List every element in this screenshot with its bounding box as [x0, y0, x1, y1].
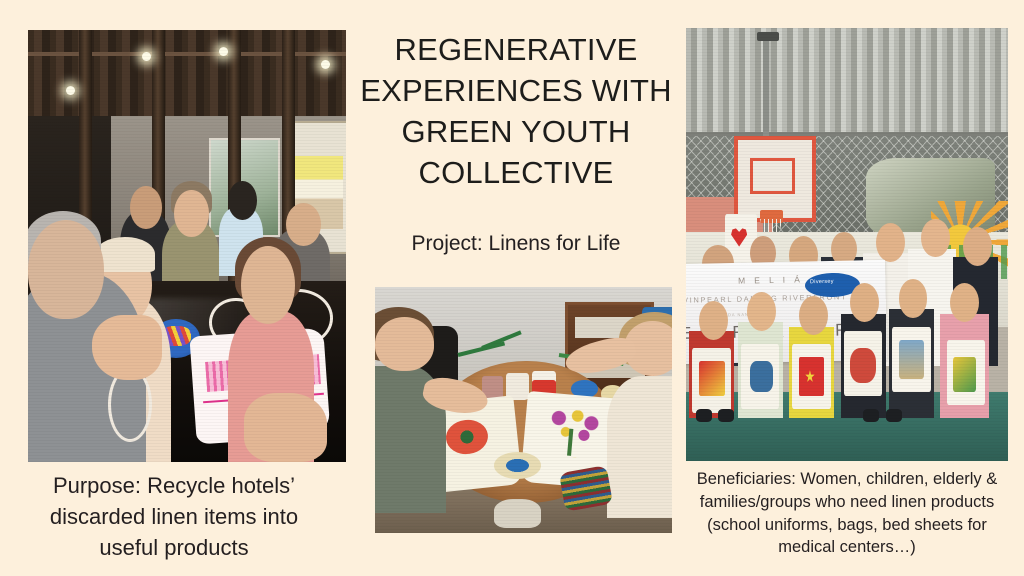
hall-ceiling — [28, 30, 346, 125]
standing-staff-head — [130, 186, 162, 229]
ceiling-lamp — [321, 60, 330, 69]
teen-head — [963, 227, 992, 266]
painter-left-head — [375, 317, 434, 371]
page-title: REGENERATIVE EXPERIENCES WITH GREEN YOUT… — [348, 30, 684, 194]
ceiling-lamp — [219, 47, 228, 56]
caption-beneficiaries: Beneficiaries: Women, children, elderly … — [676, 468, 1018, 559]
background-person-head — [228, 181, 257, 220]
woman-floral-dress-head — [241, 246, 295, 324]
painted-floral-spray — [545, 408, 602, 459]
photo-workshop-participants — [28, 30, 346, 462]
bag-painted-design — [899, 340, 925, 379]
volunteer-head — [921, 219, 950, 258]
corrugated-metal-wall — [686, 28, 1008, 141]
bag-painted-design — [750, 361, 773, 391]
seated-man-head — [286, 203, 321, 246]
ceiling-beam — [28, 52, 346, 56]
volunteer-head — [876, 223, 905, 262]
child-shoe — [863, 409, 879, 422]
caption-purpose: Purpose: Recycle hotels’ discarded linen… — [6, 470, 342, 564]
project-subtitle: Project: Linens for Life — [348, 232, 684, 256]
hands-holding-cloth — [244, 393, 327, 462]
bag-painted-design — [850, 348, 876, 383]
hands-crocheting — [92, 315, 162, 380]
child-head — [799, 296, 828, 335]
sneaker — [494, 499, 542, 529]
painter-right-body — [607, 376, 672, 519]
bag-painted-design — [699, 361, 725, 396]
child-head — [747, 292, 776, 331]
masking-tape-roll — [494, 452, 542, 479]
court-floodlight — [757, 32, 779, 41]
diversey-logo-text: Diversey — [810, 279, 834, 285]
bag-painted-design — [953, 357, 976, 392]
foreground-man-head — [28, 220, 104, 319]
child-shoe — [696, 409, 712, 422]
slide-canvas: REGENERATIVE EXPERIENCES WITH GREEN YOUT… — [0, 0, 1024, 576]
child-shoe — [886, 409, 902, 422]
banner-brand: M E L I Á — [737, 274, 802, 285]
child-head — [699, 301, 728, 340]
child-shoe — [718, 409, 734, 422]
backboard-target-box — [750, 158, 795, 194]
photo-beneficiaries-group: M E L I Á VINPEARL DANANG RIVERFRONT DA … — [686, 28, 1008, 461]
photo-bag-painting — [375, 287, 672, 533]
